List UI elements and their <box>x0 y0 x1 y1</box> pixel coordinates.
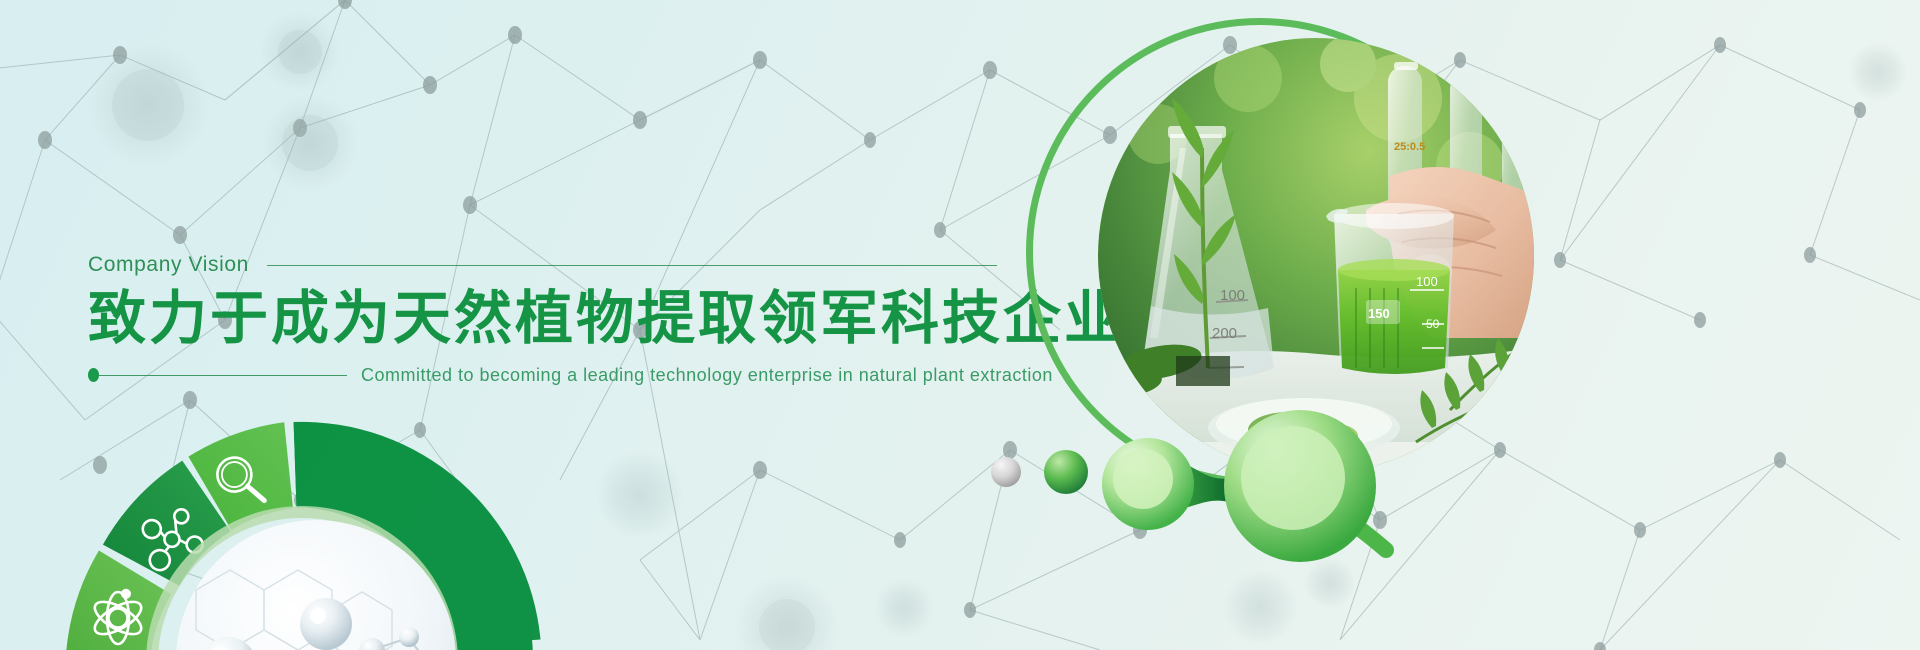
svg-text:25:0.5: 25:0.5 <box>1394 141 1425 153</box>
page-title: 致力于成为天然植物提取领军科技企业 <box>88 286 1168 351</box>
svg-text:100: 100 <box>1416 274 1438 289</box>
hero-text-block: Company Vision 致力于成为天然植物提取领军科技企业 Committ… <box>88 252 1168 386</box>
bullet-dot-icon <box>88 368 99 382</box>
subtitle-row: Committed to becoming a leading technolo… <box>88 365 1168 386</box>
wheel-segment-research[interactable] <box>188 422 293 530</box>
eyebrow-row: Company Vision <box>88 252 1168 278</box>
svg-text:150: 150 <box>1368 306 1390 321</box>
svg-text:50: 50 <box>1426 317 1440 331</box>
eyebrow-label: Company Vision <box>88 253 249 277</box>
lab-photo: 100 200 <box>1098 38 1534 474</box>
molecule-sphere-grey <box>991 457 1021 487</box>
molecule-icon <box>137 506 206 573</box>
wheel-segment-atom[interactable] <box>66 551 172 650</box>
atom-icon <box>81 581 154 650</box>
page-subtitle: Committed to becoming a leading technolo… <box>361 365 1053 386</box>
svg-text:200: 200 <box>1212 325 1237 342</box>
molecule-sphere-small <box>1044 450 1088 494</box>
vision-banner: Company Vision 致力于成为天然植物提取领军科技企业 Committ… <box>0 0 1920 650</box>
molecule-photo-disc <box>176 520 456 650</box>
svg-text:100: 100 <box>1220 287 1245 304</box>
subtitle-rule <box>99 375 347 376</box>
magnifier-icon <box>216 455 265 505</box>
eyebrow-rule <box>267 265 997 266</box>
